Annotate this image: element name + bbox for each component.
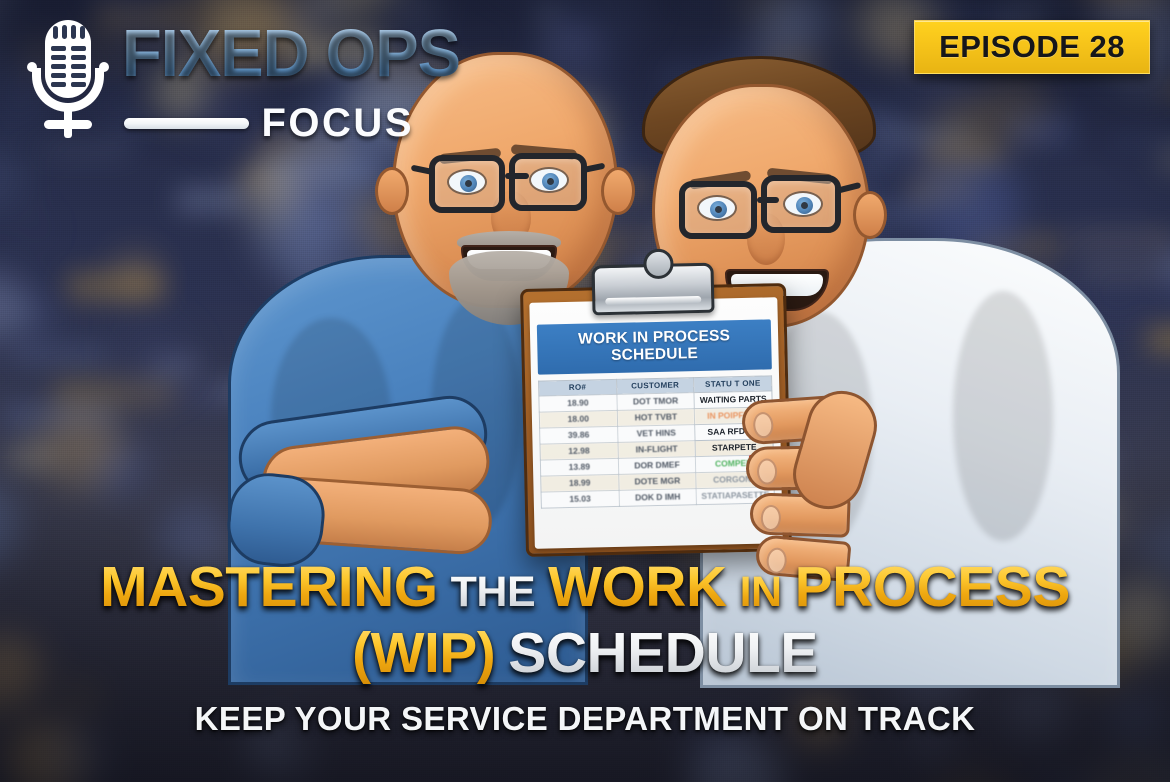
cell-ro: 18.99 bbox=[541, 474, 619, 492]
cell-ro: 18.90 bbox=[539, 394, 617, 412]
title-line-1: MASTERINGTHEWORKINPROCESS bbox=[24, 559, 1146, 616]
title-word-the: THE bbox=[451, 568, 536, 616]
cell-customer: IN-FLIGHT bbox=[618, 440, 696, 458]
cell-customer: HOT TVBT bbox=[617, 409, 695, 427]
column-header-customer: CUSTOMER bbox=[616, 377, 694, 394]
cell-ro: 39.86 bbox=[540, 426, 618, 444]
column-header-status: STATU T ONE bbox=[694, 376, 772, 393]
logo-wordmark: FIXED OPS FOCUS bbox=[122, 20, 414, 144]
cell-customer: DOK D IMH bbox=[619, 488, 697, 506]
title-word-in: IN bbox=[740, 568, 782, 616]
cell-ro: 18.00 bbox=[539, 410, 617, 428]
wip-schedule-table: RO# CUSTOMER STATU T ONE 18.90DOT TMORWA… bbox=[538, 375, 775, 508]
episode-badge[interactable]: EPISODE 28 bbox=[914, 20, 1150, 74]
title-word-schedule: SCHEDULE bbox=[508, 621, 818, 685]
title-word-process: PROCESS bbox=[795, 555, 1070, 619]
title-word-mastering: MASTERING bbox=[100, 555, 438, 619]
title-subtitle: KEEP YOUR SERVICE DEPARTMENT ON TRACK bbox=[24, 700, 1146, 738]
cell-customer: DOT TMOR bbox=[617, 393, 695, 411]
host-left-glasses bbox=[395, 55, 615, 305]
podcast-thumbnail: WORK IN PROCESS SCHEDULE RO# CUSTOMER ST… bbox=[0, 0, 1170, 782]
microphone-icon bbox=[16, 16, 120, 146]
title-line-2: (WIP)SCHEDULE bbox=[24, 625, 1146, 682]
wip-heading-line2: SCHEDULE bbox=[541, 344, 767, 366]
title-word-wip: (WIP) bbox=[352, 621, 495, 685]
column-header-ro: RO# bbox=[539, 379, 617, 396]
logo-subtitle: FOCUS bbox=[262, 103, 415, 143]
title-block: MASTERINGTHEWORKINPROCESS (WIP)SCHEDULE … bbox=[0, 559, 1170, 738]
cell-customer: DOR DMEF bbox=[618, 456, 696, 474]
show-logo[interactable]: FIXED OPS FOCUS bbox=[16, 14, 416, 146]
cell-ro: 15.03 bbox=[541, 490, 619, 508]
title-word-work: WORK bbox=[548, 555, 726, 619]
wip-schedule-heading: WORK IN PROCESS SCHEDULE bbox=[537, 319, 772, 374]
cell-ro: 12.98 bbox=[540, 442, 618, 460]
episode-badge-label: EPISODE 28 bbox=[939, 31, 1125, 62]
cell-customer: DOTE MGR bbox=[618, 472, 696, 490]
cell-customer: VET HINS bbox=[617, 425, 695, 443]
cell-ro: 13.89 bbox=[540, 458, 618, 476]
logo-rule bbox=[124, 118, 249, 129]
logo-title: FIXED OPS bbox=[122, 20, 460, 87]
clipboard-clip bbox=[591, 263, 714, 316]
